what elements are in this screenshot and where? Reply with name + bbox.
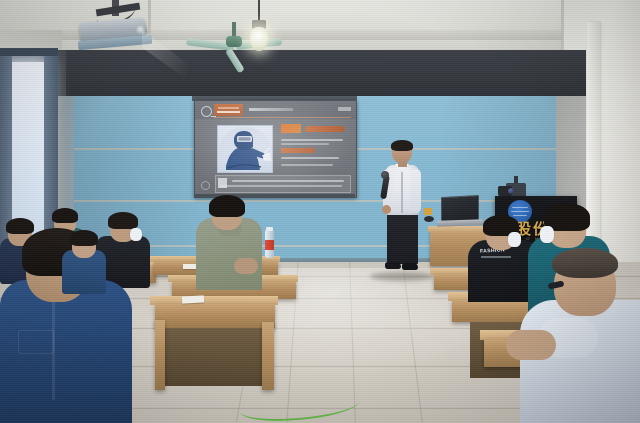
desk-leg — [155, 320, 165, 390]
water-bottle-label — [265, 240, 274, 250]
face-mask — [130, 228, 142, 241]
logo-stripe — [511, 211, 529, 212]
attendee-hair — [552, 248, 618, 278]
desk-front-panel — [160, 328, 270, 386]
slide — [195, 101, 356, 197]
presenter-hair — [391, 140, 413, 151]
attendee-hand — [234, 258, 258, 274]
attendee-hair — [70, 230, 98, 246]
face-mask — [540, 226, 554, 243]
desk — [155, 304, 275, 328]
projection-screen[interactable] — [194, 100, 357, 198]
ceiling-fan-hub — [226, 36, 242, 47]
attendee-hair — [209, 195, 245, 217]
presenter-trousers — [387, 212, 418, 264]
presenter — [378, 141, 424, 278]
face-mask — [508, 232, 521, 247]
presenter-leg-split — [410, 300, 412, 335]
presenter-arm-right — [411, 169, 421, 213]
attendee-hair — [52, 208, 78, 223]
logo-stripe — [512, 207, 528, 208]
desk-leg — [262, 322, 274, 390]
light-bulb-icon — [250, 27, 268, 51]
presenter-shoe — [385, 262, 401, 269]
upper-dark-band — [56, 50, 586, 98]
presenter-shirt-placket — [401, 169, 403, 213]
attendee-hair — [108, 212, 138, 229]
mouse-icon[interactable] — [424, 216, 434, 222]
screen-glare — [195, 101, 356, 197]
lamp-wire — [258, 0, 260, 22]
attendee-hair — [6, 218, 34, 234]
jacket-logo-line — [481, 256, 511, 258]
water-bottle-cap — [266, 227, 273, 231]
camera-lens-icon — [508, 188, 514, 194]
uniform-pocket — [18, 330, 54, 354]
handout-paper[interactable] — [182, 295, 204, 303]
desk-item — [424, 208, 432, 215]
classroom-scene: 股份 C O M P A N Y — [0, 0, 640, 423]
presenter-shoe — [402, 263, 418, 270]
attendee-arm — [506, 330, 556, 360]
ceiling-seam — [148, 0, 151, 34]
microphone-head-icon — [381, 171, 389, 179]
presenter-hand — [382, 205, 391, 214]
logo-stripe — [513, 215, 527, 216]
curtain-rod — [0, 48, 58, 56]
